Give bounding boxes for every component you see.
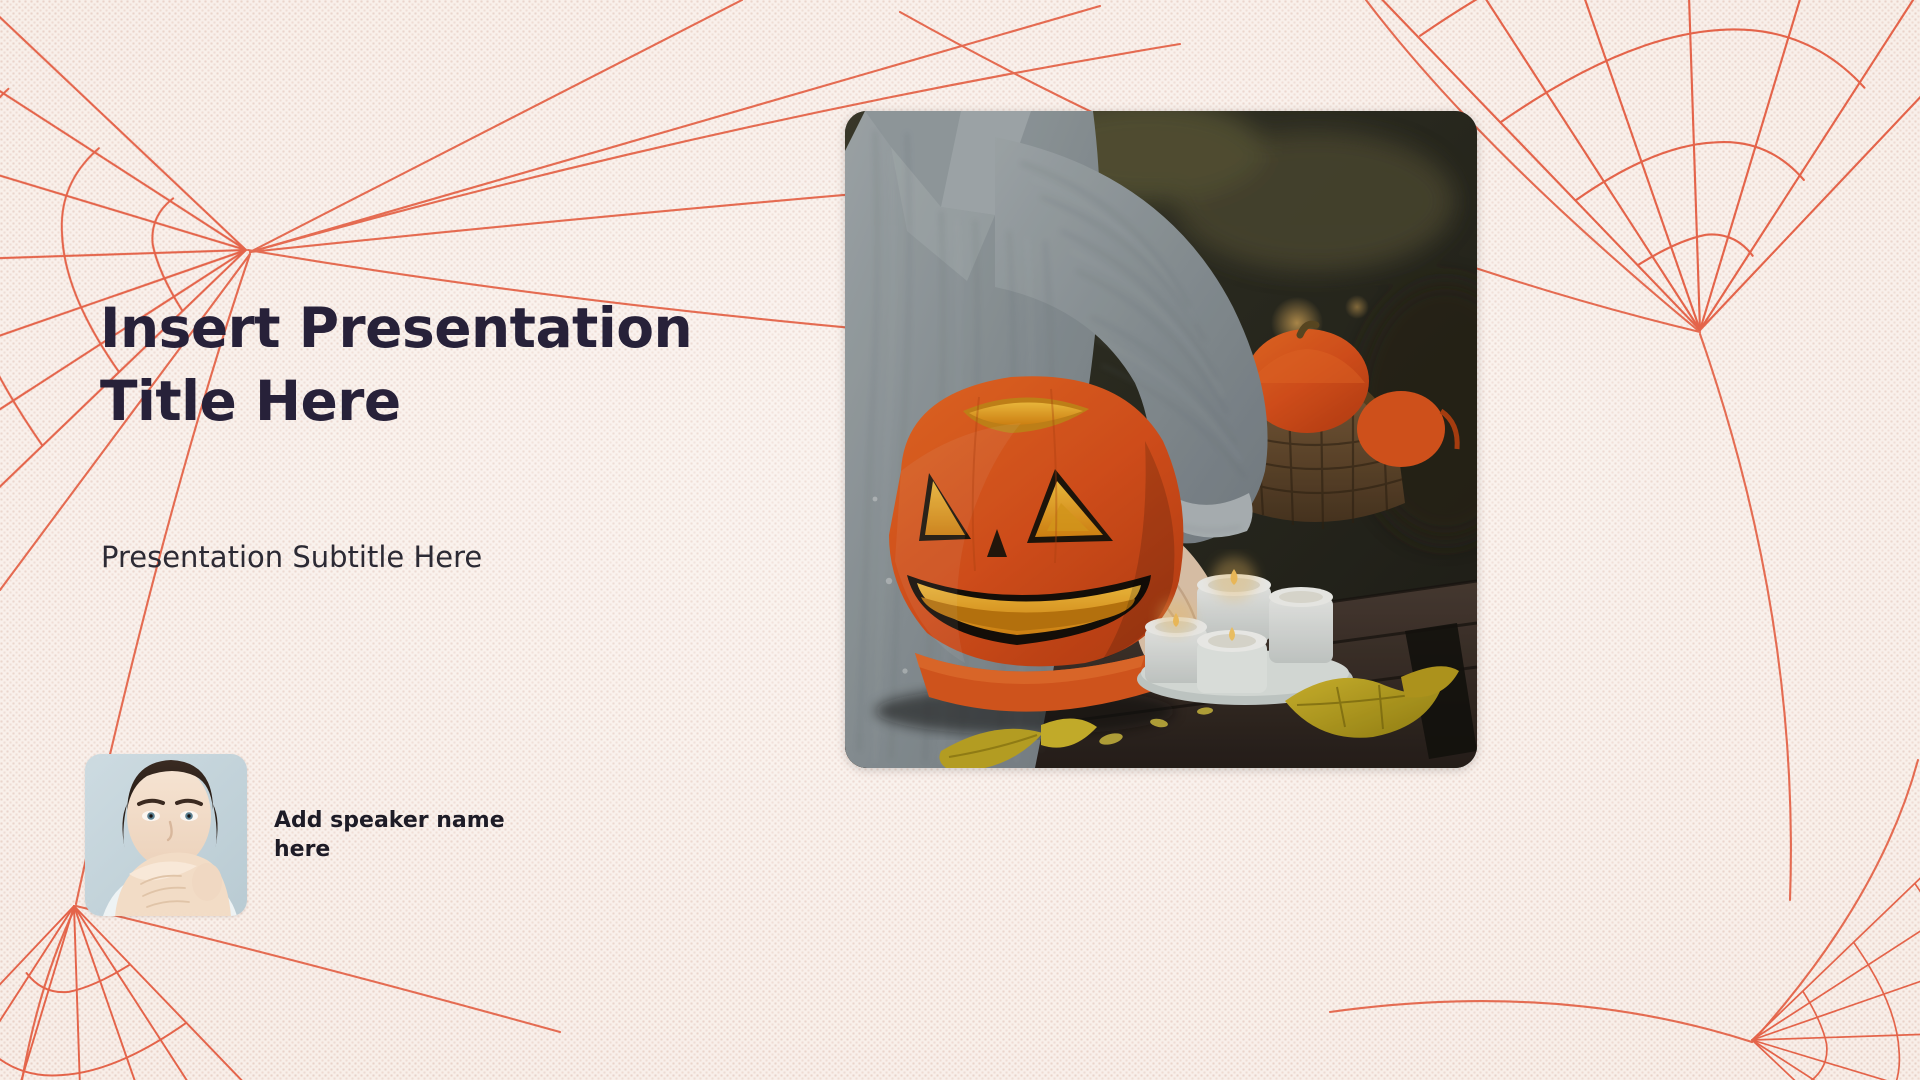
presentation-slide: Insert Presentation Title Here Presentat… [0,0,1920,1080]
speaker-photo [85,754,247,916]
hero-image [845,111,1477,768]
speaker-name: Add speaker name here [274,806,534,864]
halloween-pumpkin-carving-photo [845,111,1477,768]
page-title: Insert Presentation Title Here [100,292,800,437]
avatar [85,754,247,916]
page-subtitle: Presentation Subtitle Here [101,540,801,575]
speaker-block: Add speaker name here [85,754,534,916]
